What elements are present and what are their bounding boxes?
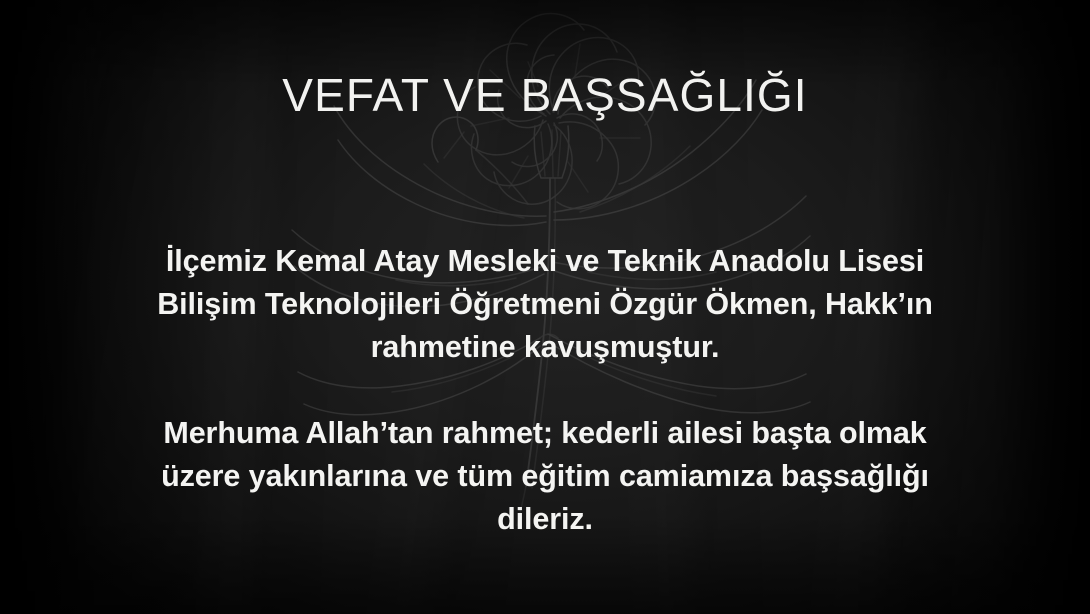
paragraph-condolence: Merhuma Allah’tan rahmet; kederli ailesi… xyxy=(60,412,1030,541)
condolence-slide: VEFAT VE BAŞSAĞLIĞI İlçemiz Kemal Atay M… xyxy=(0,0,1090,614)
page-title: VEFAT VE BAŞSAĞLIĞI xyxy=(0,71,1090,121)
announcement-line-2: Bilişim Teknolojileri Öğretmeni Özgür Ök… xyxy=(60,283,1030,326)
announcement-line-3: rahmetine kavuşmuştur. xyxy=(60,326,1030,369)
message-body: İlçemiz Kemal Atay Mesleki ve Teknik Ana… xyxy=(60,240,1030,541)
condolence-line-2: üzere yakınlarına ve tüm eğitim camiamız… xyxy=(60,455,1030,498)
condolence-line-1: Merhuma Allah’tan rahmet; kederli ailesi… xyxy=(60,412,1030,455)
announcement-line-1: İlçemiz Kemal Atay Mesleki ve Teknik Ana… xyxy=(60,240,1030,283)
paragraph-announcement: İlçemiz Kemal Atay Mesleki ve Teknik Ana… xyxy=(60,240,1030,369)
condolence-line-3: dileriz. xyxy=(60,498,1030,541)
